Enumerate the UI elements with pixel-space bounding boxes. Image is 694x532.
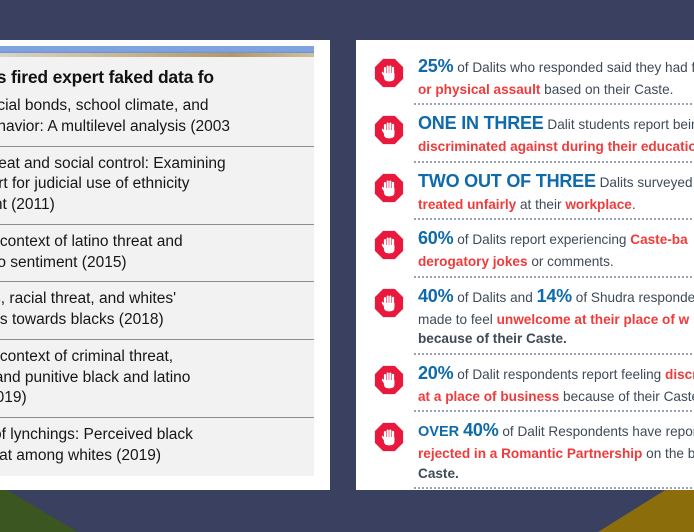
statistic-line: 60% of Dalits report experiencing Caste-… <box>418 226 694 252</box>
corner-triangle-green <box>0 486 78 532</box>
stop-hand-icon <box>374 230 404 260</box>
statistic-segment: derogatory jokes <box>418 254 528 269</box>
statistic-text: TWO OUT OF THREE Dalits surveyed reportr… <box>418 169 694 214</box>
statistic-segment: of Dalits who responded said they had fa… <box>453 60 694 75</box>
statistic-segment: rejected in a Romantic Partnership <box>418 446 642 461</box>
reference-line: support for judicial use of ethnicity <box>0 174 314 195</box>
statistic-line: or physical assault based on their Caste… <box>418 80 694 100</box>
stop-hand-icon <box>374 365 404 395</box>
statistic-segment: 40% <box>463 420 498 440</box>
statistic-text: 40% of Dalits and 14% of Shudra responde… <box>418 284 694 349</box>
statistic-segment: Dalits surveyed repor <box>596 175 694 190</box>
statistic-segment: 20% <box>418 363 453 383</box>
statistic-line: rejected in a Romantic Partnership on th… <box>418 444 694 464</box>
statistic-line: ONE IN THREE Dalit students report being <box>418 111 694 137</box>
statistic-segment: TWO OUT OF THREE <box>418 171 596 191</box>
reference-line: ent (2019) <box>0 388 314 409</box>
reference-item[interactable]: gacy of lynchings: Perceived blackal thr… <box>0 417 314 475</box>
reference-line: nic threat and social control: Examining <box>0 154 314 175</box>
right-infographic-panel: 25% of Dalits who responded said they ha… <box>356 40 694 490</box>
statistic-segment: of Dalit respondents report feeling <box>453 367 665 382</box>
statistic-segment: Caste. <box>418 466 459 481</box>
statistic-list: 25% of Dalits who responded said they ha… <box>356 48 694 490</box>
browser-divider-rule <box>0 53 314 57</box>
statistic-segment: 60% <box>418 228 453 248</box>
statistic-segment: ONE IN THREE <box>418 113 544 133</box>
reference-item[interactable]: social context of latino threat ande lat… <box>0 224 314 282</box>
statistic-row[interactable]: ONE IN THREE Dalit students report being… <box>356 105 694 162</box>
statistic-row[interactable]: 60% of Dalits report experiencing Caste-… <box>356 220 694 277</box>
statistic-row[interactable]: TWO OUT OF THREE Dalits surveyed reportr… <box>356 163 694 220</box>
statistic-line: made to feel unwelcome at their place of… <box>418 310 694 330</box>
reference-list: ool social bonds, school climate, and mi… <box>0 94 314 475</box>
reference-item[interactable]: chings, racial threat, and whites'e view… <box>0 281 314 339</box>
reference-line: ool social bonds, school climate, and <box>0 96 314 117</box>
statistic-segment: 40% <box>418 286 453 306</box>
statistic-row[interactable]: OVER 40% of Dalit Respondents have repor… <box>356 412 694 489</box>
stop-hand-icon <box>374 58 404 88</box>
statistic-segment: of Dalits and <box>453 290 536 305</box>
reference-line: e views towards blacks (2018) <box>0 310 314 331</box>
stop-hand-icon <box>374 173 404 203</box>
statistic-line: 25% of Dalits who responded said they ha… <box>418 54 694 80</box>
statistic-line: TWO OUT OF THREE Dalits surveyed repor <box>418 169 694 195</box>
statistic-row[interactable]: 20% of Dalit respondents report feeling … <box>356 355 694 412</box>
statistic-segment: unwelcome at their place of w <box>497 312 690 327</box>
statistic-segment: of Dalits report experiencing <box>453 232 630 247</box>
left-reference-screenshot-panel: tudies fired expert faked data fo ool so… <box>0 40 330 490</box>
statistic-segment: Caste-ba <box>630 232 687 247</box>
statistic-segment: made to feel <box>418 312 497 327</box>
statistic-line: derogatory jokes or comments. <box>418 252 694 272</box>
statistic-segment: . <box>632 197 636 212</box>
statistic-segment: discriminated against during their educa… <box>418 139 694 154</box>
statistic-line: Caste. <box>418 464 694 484</box>
statistic-text: OVER 40% of Dalit Respondents have repor… <box>418 418 694 483</box>
statistic-segment: of Dalit Respondents have report <box>499 424 694 439</box>
statistic-line: discriminated against during their educa… <box>418 137 694 157</box>
statistic-segment: based on their Caste. <box>540 82 673 97</box>
statistic-line: at a place of business because of their … <box>418 387 694 407</box>
reference-line: misbehavior: A multilevel analysis (2003 <box>0 117 314 138</box>
reference-line: social context of latino threat and <box>0 232 314 253</box>
statistic-row[interactable]: 40% of Dalits and 14% of Shudra responde… <box>356 278 694 355</box>
statistic-segment: Dalit students report being <box>544 117 694 132</box>
statistic-segment: on the b <box>642 446 694 461</box>
reference-line: gacy of lynchings: Perceived black <box>0 425 314 446</box>
statistic-segment: discri <box>665 367 694 382</box>
statistic-line: treated unfairly at their workplace. <box>418 195 694 215</box>
left-panel-inner-card: tudies fired expert faked data fo ool so… <box>0 46 314 476</box>
statistic-line: OVER 40% of Dalit Respondents have repor… <box>418 418 694 444</box>
page-title: tudies fired expert faked data fo <box>0 67 314 88</box>
stop-hand-icon <box>374 115 404 145</box>
statistic-segment: because of their Caste. <box>418 331 567 346</box>
browser-chrome-bar <box>0 46 314 53</box>
reference-line: al threat among whites (2019) <box>0 446 314 467</box>
statistic-segment: 25% <box>418 56 453 76</box>
statistic-segment: treated unfairly <box>418 197 516 212</box>
reference-line: social context of criminal threat, <box>0 347 314 368</box>
statistic-line: 40% of Dalits and 14% of Shudra responde… <box>418 284 694 310</box>
statistic-segment: workplace <box>565 197 632 212</box>
statistic-segment: or comments. <box>528 254 614 269</box>
statistic-text: 20% of Dalit respondents report feeling … <box>418 361 694 406</box>
statistic-text: ONE IN THREE Dalit students report being… <box>418 111 694 156</box>
statistic-line: because of their Caste. <box>418 329 694 349</box>
statistic-segment: or physical assault <box>418 82 540 97</box>
statistic-row[interactable]: ONE IN TWO of all Dalit respondents andO… <box>356 489 694 490</box>
statistic-line: 20% of Dalit respondents report feeling … <box>418 361 694 387</box>
stop-hand-icon <box>374 288 404 318</box>
reference-line: shment (2011) <box>0 195 314 216</box>
statistic-segment: 14% <box>537 286 572 306</box>
statistic-text: 25% of Dalits who responded said they ha… <box>418 54 694 99</box>
statistic-text: 60% of Dalits report experiencing Caste-… <box>418 226 694 271</box>
reference-item[interactable]: ool social bonds, school climate, and mi… <box>0 94 314 146</box>
reference-item[interactable]: nic threat and social control: Examining… <box>0 146 314 224</box>
statistic-segment: because of their Caste <box>559 389 694 404</box>
stop-hand-icon <box>374 422 404 452</box>
reference-item[interactable]: social context of criminal threat,race, … <box>0 339 314 417</box>
statistic-segment: of Shudra responden <box>572 290 694 305</box>
statistic-row[interactable]: 25% of Dalits who responded said they ha… <box>356 48 694 105</box>
statistic-segment: OVER <box>418 424 463 440</box>
reference-line: chings, racial threat, and whites' <box>0 289 314 310</box>
reference-line: e latino sentiment (2015) <box>0 253 314 274</box>
statistic-segment: at their <box>516 197 565 212</box>
reference-line: race, and punitive black and latino <box>0 368 314 389</box>
statistic-segment: at a place of business <box>418 389 559 404</box>
